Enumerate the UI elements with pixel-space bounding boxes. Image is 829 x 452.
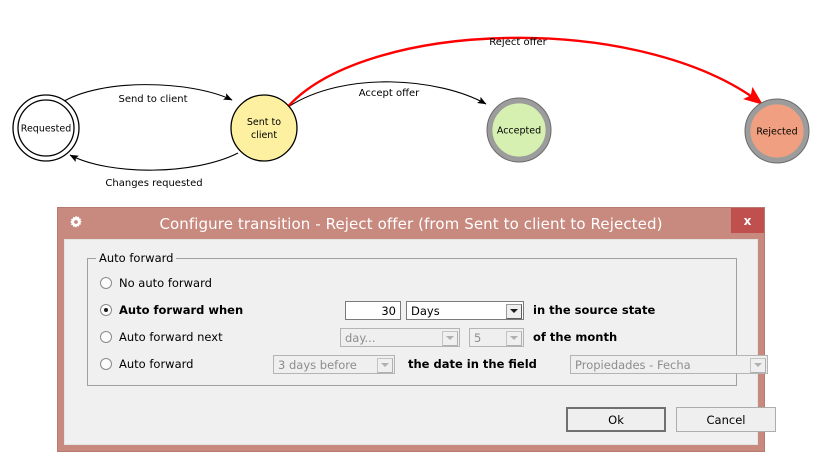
- radio-auto-forward-date-wrap[interactable]: Auto forward: [100, 353, 193, 375]
- chevron-down-icon[interactable]: [377, 358, 393, 373]
- radio-auto-forward-next[interactable]: [100, 331, 112, 343]
- dialog-body: Auto forward No auto forward Auto forwar…: [64, 239, 758, 445]
- edge-label-send-to-client: Send to client: [118, 94, 187, 105]
- auto-forward-date-field-select[interactable]: Propiedades - Fecha: [570, 355, 768, 374]
- radio-auto-forward-next-label[interactable]: Auto forward next: [119, 330, 223, 344]
- close-icon[interactable]: x: [731, 208, 764, 233]
- auto-forward-next-number-select[interactable]: 5: [469, 328, 524, 347]
- configure-transition-dialog: Configure transition - Reject offer (fro…: [57, 207, 765, 452]
- auto-forward-unit-value: Days: [411, 303, 506, 320]
- auto-forward-groupbox: Auto forward No auto forward Auto forwar…: [87, 258, 737, 386]
- auto-forward-date-middle-text: the date in the field: [408, 357, 537, 371]
- auto-forward-date-field-value: Propiedades - Fecha: [575, 357, 750, 374]
- node-accepted[interactable]: Accepted: [487, 98, 551, 162]
- auto-forward-date-offset-select[interactable]: 3 days before: [273, 355, 395, 374]
- chevron-down-icon[interactable]: [442, 331, 458, 346]
- ok-button[interactable]: Ok: [566, 407, 666, 432]
- radio-auto-forward-when-wrap[interactable]: Auto forward when: [100, 299, 243, 321]
- row-auto-forward-when: Auto forward when 30 Days in the source …: [88, 299, 736, 321]
- node-rejected-label: Rejected: [756, 127, 797, 138]
- auto-forward-next-day-select[interactable]: day...: [340, 328, 460, 347]
- radio-auto-forward-next-wrap[interactable]: Auto forward next: [100, 326, 223, 348]
- row-auto-forward-date: Auto forward 3 days before the date in t…: [88, 353, 736, 375]
- cancel-button[interactable]: Cancel: [676, 407, 776, 432]
- row-no-auto-forward: No auto forward: [88, 272, 736, 294]
- groupbox-legend: Auto forward: [96, 251, 176, 265]
- radio-no-auto-forward-label[interactable]: No auto forward: [119, 276, 212, 290]
- auto-forward-next-day-value: day...: [345, 330, 442, 347]
- node-accepted-label: Accepted: [497, 126, 541, 137]
- node-requested[interactable]: Requested: [13, 95, 79, 161]
- state-diagram: Requested Sent to client Accepted Reject…: [0, 0, 829, 210]
- node-rejected[interactable]: Rejected: [745, 99, 809, 163]
- radio-no-auto-forward[interactable]: [100, 277, 112, 289]
- edge-label-accept-offer: Accept offer: [359, 88, 420, 99]
- auto-forward-unit-select[interactable]: Days: [406, 301, 524, 320]
- edge-label-reject-offer: Reject offer: [489, 37, 547, 48]
- edge-changes-requested: [70, 153, 238, 170]
- chevron-down-icon[interactable]: [506, 304, 522, 319]
- node-requested-label: Requested: [21, 124, 71, 135]
- auto-forward-when-suffix: in the source state: [533, 303, 655, 317]
- radio-no-auto-forward-wrap[interactable]: No auto forward: [100, 272, 212, 294]
- edge-label-changes-requested: Changes requested: [105, 178, 202, 189]
- auto-forward-date-offset-value: 3 days before: [278, 357, 377, 374]
- radio-auto-forward-date-label[interactable]: Auto forward: [119, 357, 193, 371]
- gear-icon: [67, 214, 85, 232]
- node-sent-to-client[interactable]: Sent to client: [231, 95, 297, 161]
- dialog-title: Configure transition - Reject offer (fro…: [58, 215, 764, 233]
- node-sent-label-line2: client: [251, 130, 277, 141]
- radio-auto-forward-when[interactable]: [100, 304, 112, 316]
- radio-auto-forward-date[interactable]: [100, 358, 112, 370]
- chevron-down-icon[interactable]: [506, 331, 522, 346]
- radio-auto-forward-when-label[interactable]: Auto forward when: [119, 303, 243, 317]
- dialog-titlebar[interactable]: Configure transition - Reject offer (fro…: [58, 208, 764, 239]
- chevron-down-icon[interactable]: [750, 358, 766, 373]
- auto-forward-next-number-value: 5: [474, 330, 506, 347]
- node-sent-label-line1: Sent to: [247, 117, 281, 128]
- auto-forward-next-suffix: of the month: [533, 330, 617, 344]
- row-auto-forward-next: Auto forward next day... 5 of the month: [88, 326, 736, 348]
- auto-forward-amount-input[interactable]: 30: [345, 301, 401, 320]
